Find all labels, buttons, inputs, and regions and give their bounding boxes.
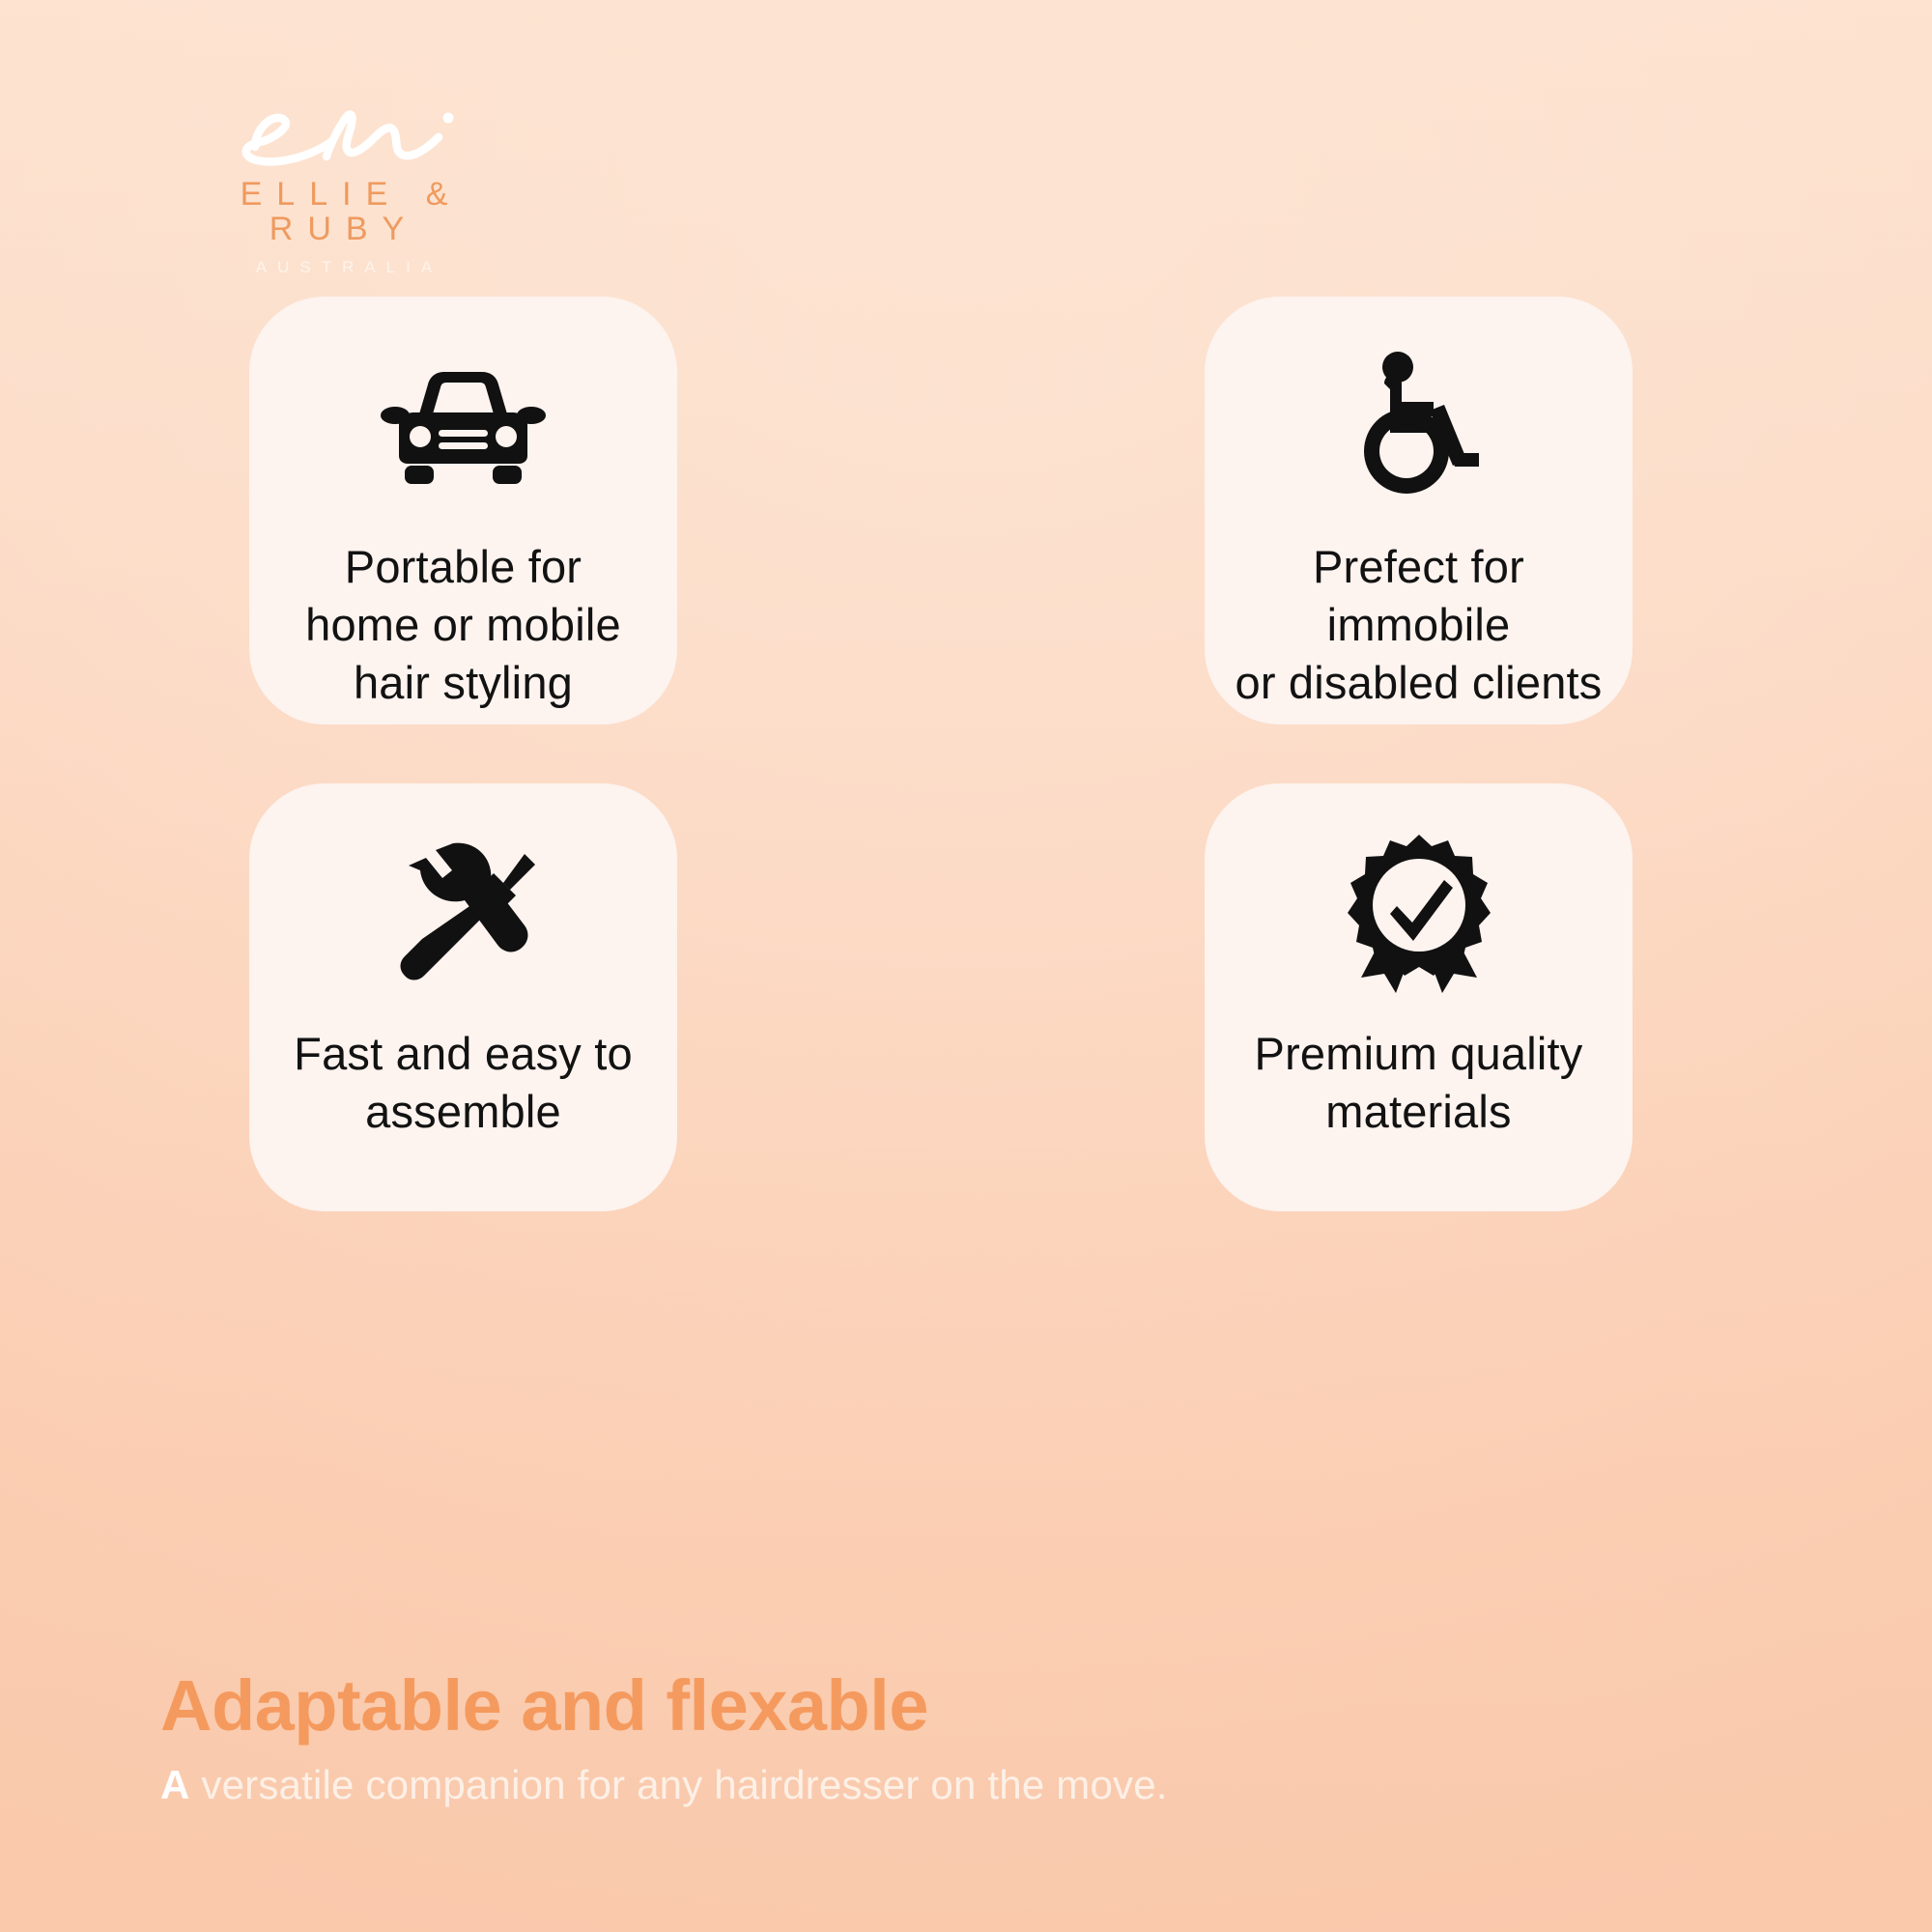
feature-card-quality[interactable]: Premium quality materials [1205, 783, 1633, 1211]
footer-headline: Adaptable and flexable [160, 1668, 1803, 1744]
wheelchair-accessibility-icon [1347, 351, 1492, 505]
car-icon [374, 351, 553, 505]
feature-card-assembly[interactable]: Fast and easy to assemble [249, 783, 677, 1211]
er-monogram-icon [218, 89, 469, 176]
quality-badge-check-icon [1342, 838, 1496, 992]
tools-wrench-screwdriver-icon [384, 838, 543, 992]
feature-card-text: Prefect for immobile or disabled clients [1230, 538, 1607, 712]
brand-tagline: AUSTRALIA [141, 258, 547, 277]
feature-card-text: Portable for home or mobile hair styling [305, 538, 621, 712]
feature-card-text: Fast and easy to assemble [294, 1025, 633, 1141]
feature-card-grid: Portable for home or mobile hair styling [249, 297, 1633, 1211]
feature-card-accessibility[interactable]: Prefect for immobile or disabled clients [1205, 297, 1633, 724]
brand-name: ELLIE & RUBY [141, 178, 547, 246]
monogram-dot-icon [443, 113, 454, 124]
promo-poster: ELLIE & RUBY AUSTRALIA [0, 0, 1932, 1932]
footer-subtitle-lead: A [160, 1762, 190, 1807]
footer-subtitle-rest: versatile companion for any hairdresser … [190, 1762, 1168, 1807]
feature-card-portable[interactable]: Portable for home or mobile hair styling [249, 297, 677, 724]
footer-message: Adaptable and flexable A versatile compa… [160, 1668, 1803, 1809]
brand-logo: ELLIE & RUBY AUSTRALIA [141, 89, 547, 277]
feature-card-text: Premium quality materials [1255, 1025, 1583, 1141]
footer-subtitle: A versatile companion for any hairdresse… [160, 1761, 1803, 1809]
